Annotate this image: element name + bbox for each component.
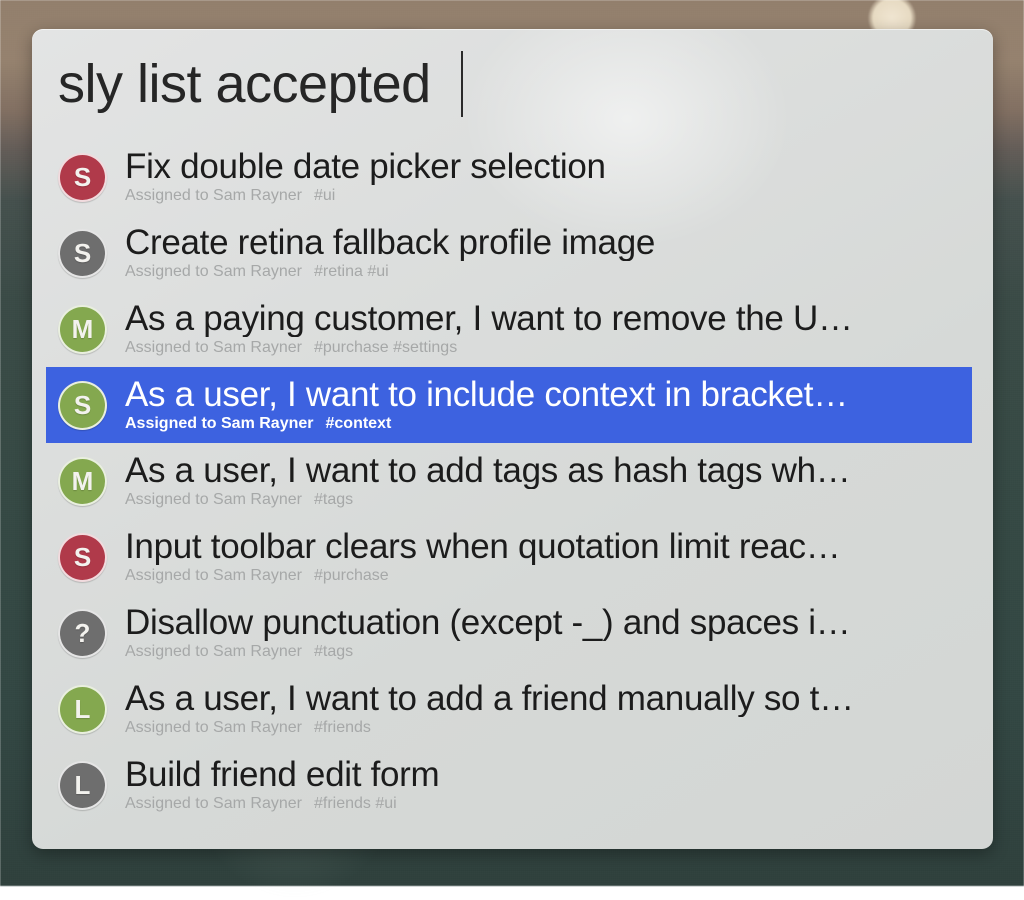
avatar: S [58,533,107,582]
avatar: S [58,229,107,278]
search-input[interactable]: sly list accepted [58,57,445,111]
result-text-block: Build friend edit formAssigned to Sam Ra… [125,757,972,814]
result-tags[interactable]: #context [326,415,392,432]
result-subtitle: Assigned to Sam Rayner#retina #ui [125,263,972,281]
result-tags[interactable]: #friends #ui [314,795,397,812]
result-assignee: Assigned to Sam Rayner [125,643,302,660]
result-row[interactable]: SAs a user, I want to include context in… [46,367,972,443]
result-row[interactable]: LBuild friend edit formAssigned to Sam R… [46,747,972,823]
result-subtitle: Assigned to Sam Rayner#friends [125,719,972,737]
result-assignee: Assigned to Sam Rayner [125,415,314,432]
avatar: M [58,457,107,506]
avatar: S [58,153,107,202]
result-assignee: Assigned to Sam Rayner [125,719,302,736]
result-text-block: Input toolbar clears when quotation limi… [125,529,972,586]
result-tags[interactable]: #purchase #settings [314,339,457,356]
result-row[interactable]: MAs a paying customer, I want to remove … [46,291,972,367]
search-field[interactable]: sly list accepted [32,29,993,139]
quick-search-panel: sly list accepted SFix double date picke… [32,29,993,849]
result-assignee: Assigned to Sam Rayner [125,187,302,204]
result-row[interactable]: MAs a user, I want to add tags as hash t… [46,443,972,519]
result-tags[interactable]: #purchase [314,567,389,584]
result-subtitle: Assigned to Sam Rayner#friends #ui [125,795,972,813]
result-subtitle: Assigned to Sam Rayner#tags [125,643,972,661]
result-title: As a user, I want to include context in … [125,377,972,414]
result-title: Input toolbar clears when quotation limi… [125,529,972,566]
result-title: Fix double date picker selection [125,149,972,186]
result-subtitle: Assigned to Sam Rayner#ui [125,187,972,205]
avatar: L [58,761,107,810]
result-assignee: Assigned to Sam Rayner [125,795,302,812]
result-assignee: Assigned to Sam Rayner [125,263,302,280]
result-row[interactable]: LAs a user, I want to add a friend manua… [46,671,972,747]
result-row[interactable]: SFix double date picker selectionAssigne… [46,139,972,215]
avatar: L [58,685,107,734]
result-row[interactable]: SInput toolbar clears when quotation lim… [46,519,972,595]
result-text-block: As a user, I want to include context in … [125,377,972,434]
result-assignee: Assigned to Sam Rayner [125,339,302,356]
avatar: M [58,305,107,354]
result-tags[interactable]: #tags [314,491,353,508]
result-text-block: Disallow punctuation (except -_) and spa… [125,605,972,662]
result-title: Disallow punctuation (except -_) and spa… [125,605,972,642]
result-tags[interactable]: #friends [314,719,371,736]
result-assignee: Assigned to Sam Rayner [125,491,302,508]
result-text-block: Fix double date picker selectionAssigned… [125,149,972,206]
result-title: Build friend edit form [125,757,972,794]
result-text-block: Create retina fallback profile imageAssi… [125,225,972,282]
avatar: ? [58,609,107,658]
result-subtitle: Assigned to Sam Rayner#purchase #setting… [125,339,972,357]
text-caret [461,51,463,117]
result-row[interactable]: SCreate retina fallback profile imageAss… [46,215,972,291]
result-tags[interactable]: #tags [314,643,353,660]
result-title: Create retina fallback profile image [125,225,972,262]
result-text-block: As a user, I want to add tags as hash ta… [125,453,972,510]
result-title: As a user, I want to add a friend manual… [125,681,972,718]
result-title: As a user, I want to add tags as hash ta… [125,453,972,490]
result-text-block: As a user, I want to add a friend manual… [125,681,972,738]
result-row[interactable]: ?Disallow punctuation (except -_) and sp… [46,595,972,671]
result-subtitle: Assigned to Sam Rayner#tags [125,491,972,509]
result-title: As a paying customer, I want to remove t… [125,301,972,338]
search-results-list[interactable]: SFix double date picker selectionAssigne… [32,139,993,823]
result-assignee: Assigned to Sam Rayner [125,567,302,584]
avatar: S [58,381,107,430]
result-subtitle: Assigned to Sam Rayner#purchase [125,567,972,585]
result-tags[interactable]: #retina #ui [314,263,389,280]
result-text-block: As a paying customer, I want to remove t… [125,301,972,358]
result-tags[interactable]: #ui [314,187,335,204]
result-subtitle: Assigned to Sam Rayner#context [125,415,972,433]
